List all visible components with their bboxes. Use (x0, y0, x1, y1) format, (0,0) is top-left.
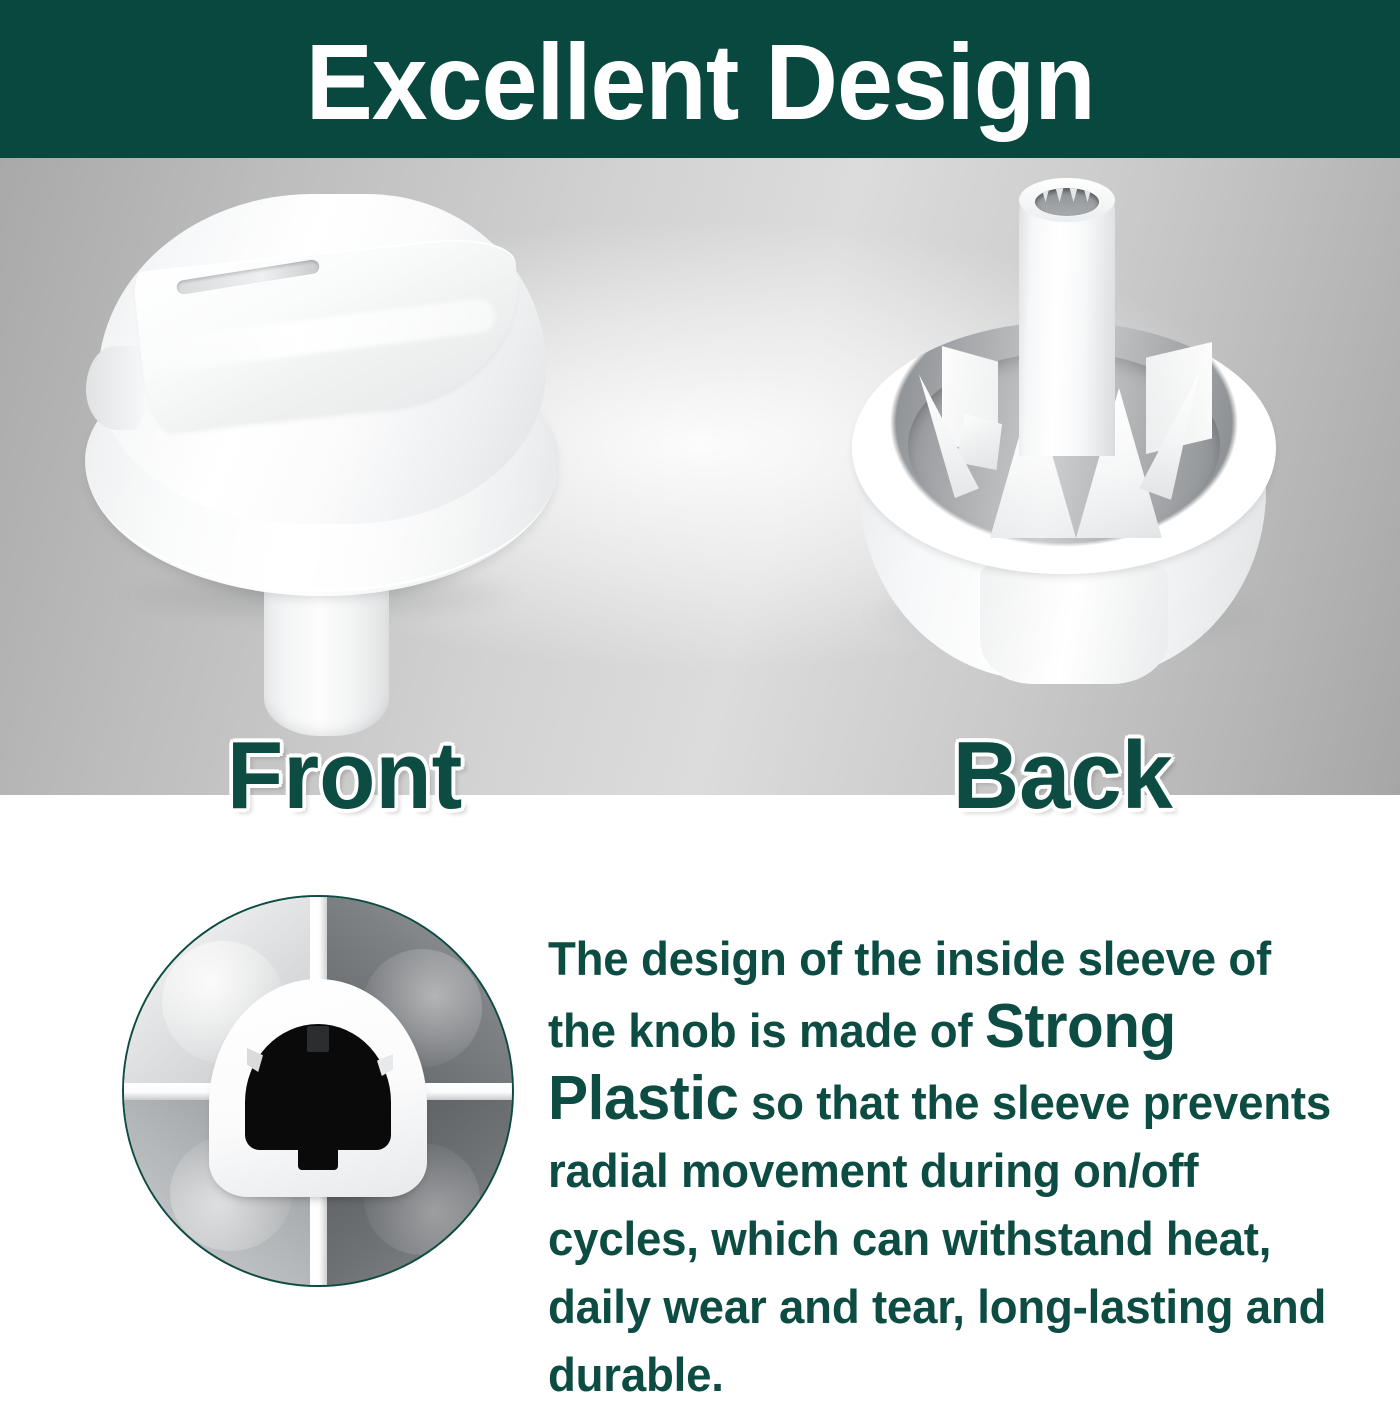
knob-inner-sleeve-closeup (122, 895, 514, 1287)
product-photo-strip (0, 158, 1400, 795)
closeup-socket-notch (298, 1142, 338, 1170)
description-paragraph: The design of the inside sleeve of the k… (548, 925, 1334, 1409)
front-view-label: Front (227, 728, 462, 824)
detail-section: The design of the inside sleeve of the k… (0, 795, 1400, 1400)
closeup-socket-key-tab (307, 1026, 329, 1052)
knob-front-photo (80, 186, 600, 776)
back-view-label: Back (953, 728, 1173, 824)
knob-back-spline-socket (1035, 188, 1099, 216)
spline-tooth-icon (1041, 188, 1050, 202)
closeup-d-shaped-socket (245, 1024, 391, 1150)
closeup-socket-left-chip (247, 1048, 263, 1072)
knob-front-side-nub (86, 346, 144, 430)
spline-tooth-icon (1083, 188, 1092, 202)
header-banner: Excellent Design (0, 0, 1400, 158)
knob-back-body-tab (978, 566, 1168, 684)
knob-back-photo (830, 174, 1330, 774)
closeup-socket-right-chip (377, 1054, 393, 1076)
spline-tooth-icon (1069, 188, 1078, 202)
infographic-page: Excellent Design (0, 0, 1400, 1400)
page-title: Excellent Design (306, 22, 1095, 136)
knob-back-center-post (1019, 188, 1115, 456)
spline-tooth-icon (1055, 188, 1064, 202)
